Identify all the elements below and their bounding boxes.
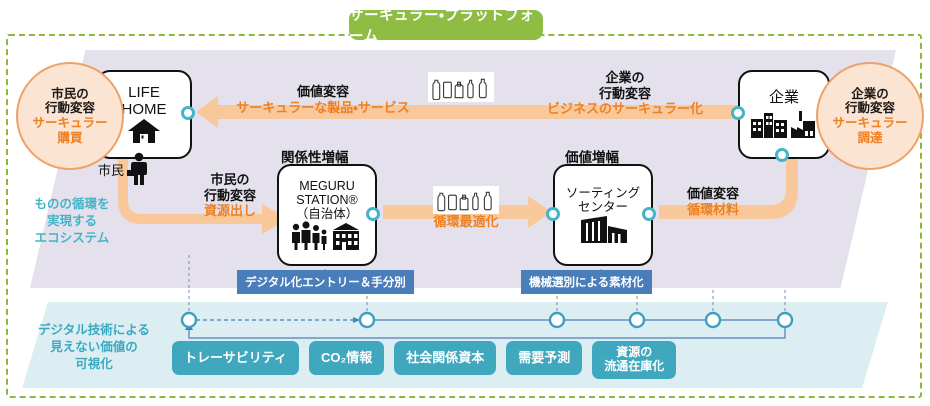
dot-sorting-left xyxy=(546,207,560,221)
chip-resource-inventory[interactable]: 資源の 流通在庫化 xyxy=(592,341,676,379)
node-sorting-center[interactable]: ソーティング センター xyxy=(553,164,653,266)
meguru-line3: （自治体） xyxy=(296,207,359,221)
flow-top-left-orange: サーキュラーな製品・サービス xyxy=(228,100,418,116)
flow-bottom-left-text: 市民の 行動変容 資源出し xyxy=(175,172,285,219)
dot-life-home xyxy=(181,106,195,120)
ellipse-right-line1: 企業の xyxy=(851,87,889,102)
chip-co2-info-label: CO₂情報 xyxy=(321,351,372,366)
ellipse-left-line1: 市民の xyxy=(51,87,89,102)
node-meguru-station[interactable]: MEGURU STATION® （自治体） xyxy=(277,164,377,266)
flow-bottom-left-dark1: 市民の xyxy=(175,172,285,188)
life-home-line1: LIFE xyxy=(128,85,160,102)
digital-line1: デジタル技術による xyxy=(28,322,160,339)
node-droplines xyxy=(0,255,930,295)
platform-title-badge: サーキュラー・プラットフォーム xyxy=(349,10,543,40)
person-icon xyxy=(126,152,152,186)
sorting-line2: センター xyxy=(578,200,628,214)
ecosystem-caption: ものの循環を 実現する エコシステム xyxy=(24,196,120,247)
meguru-line2: STATION® xyxy=(296,193,358,207)
eco-line1: ものの循環を xyxy=(24,196,120,213)
chip-resource-inventory-line1: 資源の xyxy=(604,346,664,360)
citizen-behavior-ellipse: 市民の 行動変容 サーキュラー 購買 xyxy=(16,62,124,170)
flow-top-left-text: 価値変容 サーキュラーな製品・サービス xyxy=(228,84,418,116)
flow-bottom-left-orange: 資源出し xyxy=(175,203,285,219)
eco-line2: 実現する xyxy=(24,213,120,230)
digital-line3: 可視化 xyxy=(28,356,160,373)
ellipse-right-line3: サーキュラー xyxy=(832,116,907,131)
containers-icon-top xyxy=(428,72,494,102)
callout-machine-sorting: 機械選別による素材化 xyxy=(521,270,652,294)
ellipse-left-line2: 行動変容 xyxy=(45,101,95,116)
chip-social-capital[interactable]: 社会関係資本 xyxy=(394,341,496,375)
diagram-canvas: サーキュラー・プラットフォーム xyxy=(0,0,930,406)
callout-digital-entry: デジタル化エントリー＆手分別 xyxy=(237,270,414,294)
chip-social-capital-label: 社会関係資本 xyxy=(406,351,484,366)
life-home-line2: HOME xyxy=(122,102,167,119)
dot-company-bottom xyxy=(775,148,789,162)
flow-top-right-dark2: 行動変容 xyxy=(510,86,740,102)
flow-right-orange: 循環材料 xyxy=(665,202,761,218)
factory-buildings-icon xyxy=(749,107,819,139)
flow-right-text: 価値変容 循環材料 xyxy=(665,186,761,218)
flow-top-left-dark: 価値変容 xyxy=(228,84,418,100)
chip-demand-forecast-label: 需要予測 xyxy=(518,351,570,366)
chip-resource-inventory-line2: 流通在庫化 xyxy=(604,360,664,374)
sorting-line1: ソーティング xyxy=(566,186,640,200)
company-label: 企業 xyxy=(769,90,799,107)
digital-capability-chips: トレーサビリティ CO₂情報 社会関係資本 需要予測 資源の 流通在庫化 xyxy=(172,341,676,379)
flow-middle-orange: 循環最適化 xyxy=(408,214,524,230)
caption-sorting: 価値増幅 xyxy=(565,146,619,166)
plant-icon xyxy=(573,214,633,244)
flow-bottom-left-dark2: 行動変容 xyxy=(175,188,285,204)
dot-company-left xyxy=(731,106,745,120)
house-icon xyxy=(127,118,161,144)
ellipse-left-line3: サーキュラー xyxy=(32,116,107,131)
citizen-label: 市民 xyxy=(98,160,124,179)
dot-meguru-right xyxy=(366,207,380,221)
chip-traceability[interactable]: トレーサビリティ xyxy=(172,341,299,375)
digital-line2: 見えない価値の xyxy=(28,339,160,356)
chip-co2-info[interactable]: CO₂情報 xyxy=(309,341,384,375)
flow-right-dark: 価値変容 xyxy=(665,186,761,202)
company-behavior-ellipse: 企業の 行動変容 サーキュラー 調達 xyxy=(816,62,924,170)
ellipse-left-line4: 購買 xyxy=(57,131,82,146)
digital-caption: デジタル技術による 見えない価値の 可視化 xyxy=(28,322,160,373)
dot-sorting-right xyxy=(642,207,656,221)
flow-top-right-orange: ビジネスのサーキュラー化 xyxy=(510,101,740,117)
people-school-icon xyxy=(289,221,365,251)
chip-traceability-label: トレーサビリティ xyxy=(184,351,287,366)
caption-meguru: 関係性増幅 xyxy=(281,146,349,166)
ellipse-right-line2: 行動変容 xyxy=(845,101,895,116)
eco-line3: エコシステム xyxy=(24,230,120,247)
containers-icon-middle xyxy=(433,186,499,214)
citizen-marker: 市民 xyxy=(98,152,152,186)
meguru-line1: MEGURU xyxy=(299,179,355,193)
flow-top-right-text: 企業の 行動変容 ビジネスのサーキュラー化 xyxy=(510,70,740,117)
flow-middle-text: 循環最適化 xyxy=(408,214,524,230)
flow-top-right-dark1: 企業の xyxy=(510,70,740,86)
chip-demand-forecast[interactable]: 需要予測 xyxy=(506,341,582,375)
ellipse-right-line4: 調達 xyxy=(857,131,882,146)
